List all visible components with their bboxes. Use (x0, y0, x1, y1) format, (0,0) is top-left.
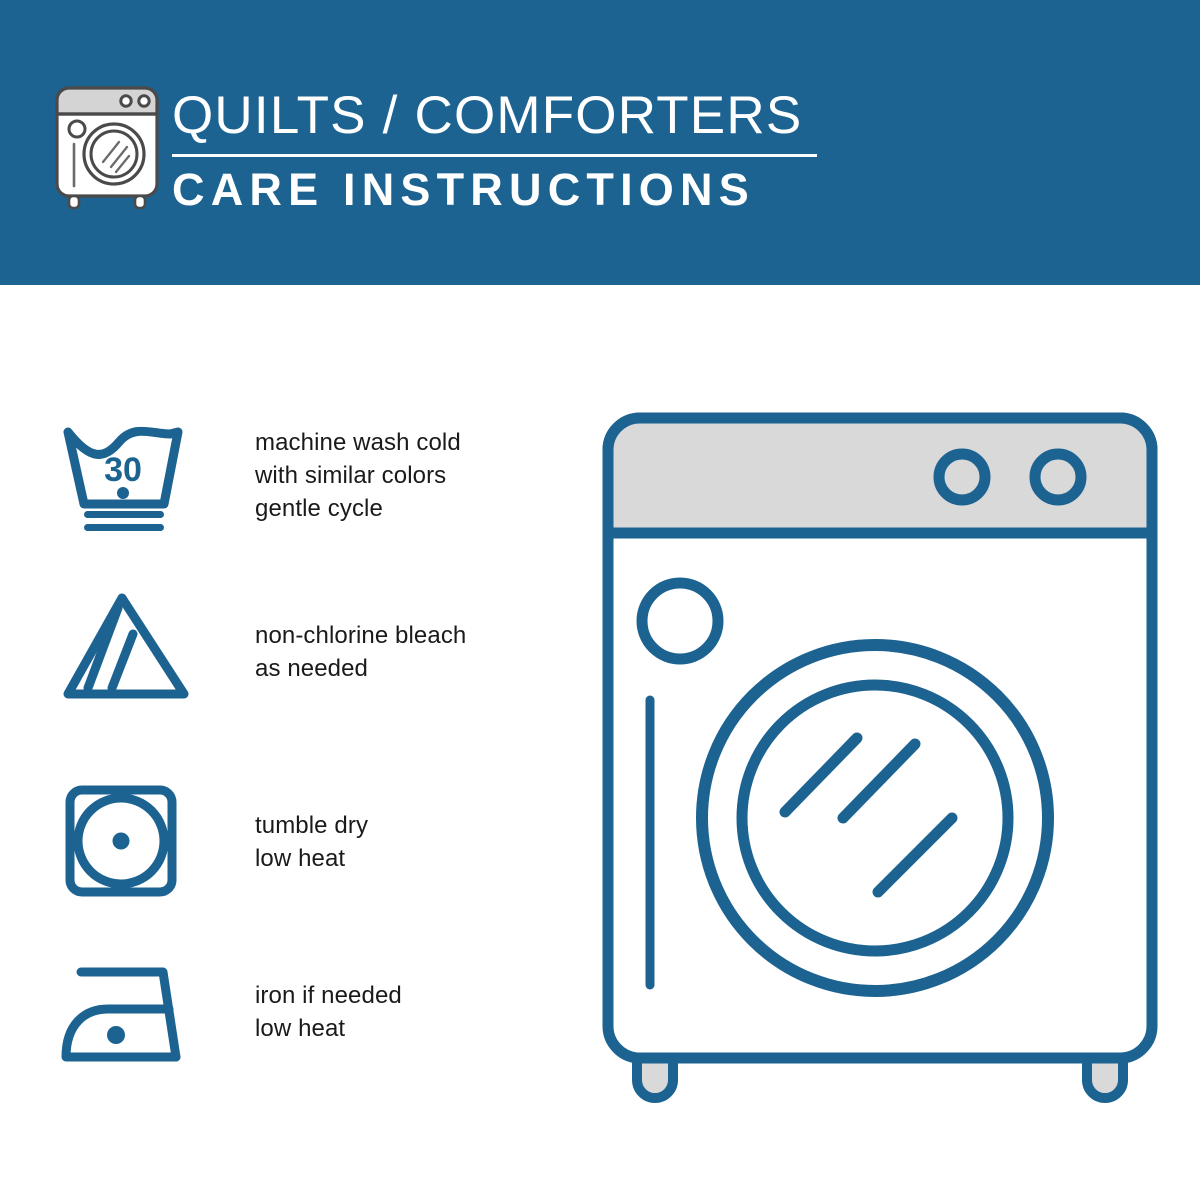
care-line: gentle cycle (255, 492, 461, 525)
iron-low-heat-icon (60, 957, 195, 1074)
care-item-tumble-dry-label: tumble dry low heat (255, 809, 368, 875)
care-line: non-chlorine bleach (255, 619, 466, 652)
care-line: with similar colors (255, 459, 461, 492)
header-title-block: QUILTS / COMFORTERS CARE INSTRUCTIONS (172, 86, 817, 216)
title-divider (172, 154, 817, 157)
page-title-primary: QUILTS / COMFORTERS (172, 86, 817, 146)
tumble-dry-low-heat-icon (60, 785, 195, 902)
care-item-iron-label: iron if needed low heat (255, 979, 402, 1045)
care-instructions-list: 30 machine wash cold with similar colors… (0, 285, 560, 1200)
care-item-wash-label: machine wash cold with similar colors ge… (255, 426, 461, 525)
washing-machine-logo-icon (52, 82, 162, 210)
care-line: machine wash cold (255, 426, 461, 459)
wash-tub-30-gentle-icon: 30 (60, 420, 195, 537)
care-item-bleach-label: non-chlorine bleach as needed (255, 619, 466, 685)
page-title-secondary: CARE INSTRUCTIONS (172, 164, 817, 216)
triangle-non-chlorine-bleach-icon (60, 590, 195, 707)
care-line: low heat (255, 1012, 402, 1045)
care-line: low heat (255, 842, 368, 875)
care-line: tumble dry (255, 809, 368, 842)
care-line: iron if needed (255, 979, 402, 1012)
front-load-washing-machine-illustration (595, 400, 1165, 1130)
header-bar: QUILTS / COMFORTERS CARE INSTRUCTIONS (0, 0, 1200, 285)
care-line: as needed (255, 652, 466, 685)
svg-text:30: 30 (104, 451, 142, 489)
